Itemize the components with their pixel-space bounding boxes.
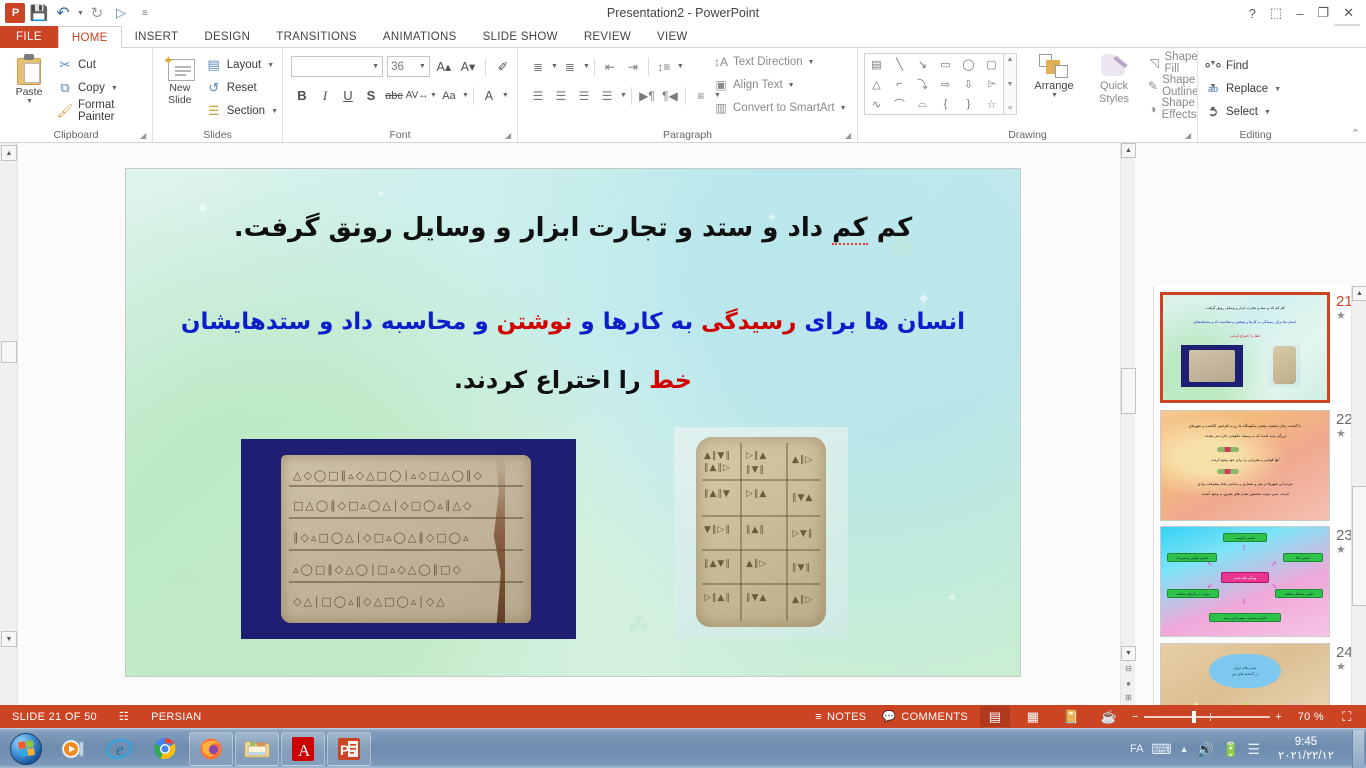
reading-view-button[interactable]: 📔	[1056, 706, 1086, 727]
shape-outline-icon: ✎	[1148, 78, 1158, 94]
font-size-value: 36	[391, 61, 404, 73]
file-explorer-taskbar-icon[interactable]	[235, 732, 279, 766]
zoom-slider[interactable]: − +	[1132, 711, 1282, 723]
thumb23-box-2: داشتن خط	[1283, 553, 1323, 562]
bullets-button[interactable]: ≣	[527, 56, 549, 77]
thumb21-line3: خط را اختراع کردند.	[1168, 333, 1322, 339]
thumb24-cloud-line2: در گذشته های دور	[1232, 671, 1259, 677]
numbering-dropdown-icon[interactable]: ▼	[583, 63, 590, 70]
italic-button[interactable]: I	[314, 85, 336, 106]
tab-review[interactable]: REVIEW	[571, 26, 644, 48]
language-bar-indicator[interactable]: FA	[1130, 743, 1143, 755]
keyboard-icon[interactable]: ⌨	[1151, 741, 1171, 758]
find-button[interactable]: ⚬⚬ Find	[1202, 56, 1309, 76]
help-button[interactable]: ?	[1249, 6, 1256, 21]
arrange-icon	[1037, 52, 1071, 80]
line-spacing-dropdown-icon[interactable]: ▼	[677, 63, 684, 70]
tab-insert[interactable]: INSERT	[122, 26, 192, 48]
slide-line2-part-2: رسیدگی	[701, 309, 796, 335]
replace-dropdown-icon[interactable]: ▼	[1274, 86, 1281, 93]
tab-slide-show[interactable]: SLIDE SHOW	[470, 26, 571, 48]
arrange-button[interactable]: Arrange ▼	[1024, 52, 1084, 99]
group-label-clipboard: Clipboard	[0, 129, 152, 141]
arrange-dropdown-icon[interactable]: ▼	[1051, 92, 1058, 99]
select-button[interactable]: ➲ Select ▼	[1202, 102, 1309, 122]
tab-home[interactable]: HOME	[58, 26, 122, 49]
shape-arc-icon[interactable]: ⌓	[911, 94, 934, 114]
cut-button[interactable]: ✂ Cut	[54, 55, 148, 75]
slide-thumbnail-23[interactable]: داشتن حکومت داشتن خط داشتن قوانین و مقرر…	[1160, 526, 1330, 637]
thumbnail-animation-star-24[interactable]: ★	[1336, 661, 1346, 673]
slide-line2-part-5: و محاسبه داد و ستدهایشان	[181, 309, 497, 335]
previous-slide-button[interactable]: ⊟	[1121, 661, 1136, 676]
ribbon-group-drawing: ▤ ╲ ↘ ▭ ◯ ▢ △ ⌐ ⤵ ⇨ ⇩ ⌲ ∿ ⌒ ⌓ { } ☆ ▲	[857, 48, 1197, 142]
shape-arrow-icon[interactable]: ↘	[911, 54, 934, 74]
outline-scroll-down-icon[interactable]: ▼	[1, 631, 17, 647]
character-spacing-dropdown-icon[interactable]: ▼	[430, 92, 437, 99]
layout-label: Layout	[227, 59, 262, 71]
battery-icon[interactable]: 🔋	[1222, 741, 1239, 758]
shape-elbow-arrow-icon[interactable]: ⤵	[911, 74, 934, 94]
mozilla-firefox-taskbar-icon[interactable]	[189, 732, 233, 766]
next-slide-button[interactable]: ⊞	[1121, 690, 1136, 705]
quick-styles-icon	[1097, 52, 1131, 80]
layout-button[interactable]: ▤ Layout ▼	[203, 55, 278, 75]
shape-scribble-icon[interactable]: ∿	[865, 94, 888, 114]
text-direction-dropdown-icon[interactable]: ▼	[808, 59, 815, 66]
columns-button[interactable]: ≡	[690, 85, 712, 106]
ribbon: Paste ▼ ✂ Cut ⧉ Copy ▼ 🖌 Format Painter	[0, 48, 1366, 143]
slide-sorter-button[interactable]: ▦	[1018, 706, 1048, 727]
group-label-editing: Editing	[1198, 129, 1313, 141]
zoom-out-button[interactable]: −	[1132, 711, 1139, 723]
clipboard-icon	[14, 54, 44, 86]
comments-label: COMMENTS	[901, 711, 968, 723]
reset-button[interactable]: ↺ Reset	[203, 78, 278, 98]
para-separator-2	[648, 58, 649, 76]
powerpoint-taskbar-icon[interactable]: P	[327, 732, 371, 766]
thumb23-box-6: داشتن معماری، شهرسازی و هنر	[1209, 613, 1281, 622]
slide-vertical-scrollbar[interactable]: ▲ ▼ ⊟ ● ⊞	[1120, 143, 1135, 705]
slide-scroll-down-icon[interactable]: ▼	[1121, 646, 1136, 661]
group-label-drawing: Drawing	[858, 129, 1197, 141]
windows-media-player-taskbar-icon[interactable]	[51, 732, 95, 766]
start-slideshow-icon[interactable]: ▷	[110, 2, 132, 24]
svg-text:P: P	[340, 742, 349, 758]
smartart-icon: ▥	[713, 100, 729, 116]
slide-line2-part-4: نوشتن	[497, 309, 573, 335]
window-title: Presentation2 - PowerPoint	[0, 0, 1366, 26]
shape-rounded-rect-icon[interactable]: ▢	[980, 54, 1003, 74]
layout-icon: ▤	[206, 57, 222, 73]
proto-elamite-clay-tablet-image[interactable]: △◇◯□∥▵◇△□◯∣▵◇□△◯∥◇ □△◯∥◇□▵◯△∣◇□◯▵∥△◇ ∥◇▵…	[241, 439, 576, 639]
shape-left-brace-icon[interactable]: {	[934, 94, 957, 114]
clear-formatting-button[interactable]: ✐	[493, 56, 513, 77]
copy-dropdown-icon[interactable]: ▼	[111, 85, 118, 92]
slide-line2-part-1: انسان ها برای	[796, 309, 965, 335]
drawing-dialog-launcher-icon[interactable]: ◢	[1185, 131, 1194, 140]
thumbnail-scroll-up-icon[interactable]: ▲	[1352, 286, 1366, 301]
svg-text:e: e	[116, 740, 124, 759]
thumbnail-scroll-thumb[interactable]	[1352, 486, 1366, 606]
slide-indicator[interactable]: SLIDE 21 OF 50	[8, 705, 101, 728]
font-color-dropdown-icon[interactable]: ▼	[502, 92, 509, 99]
notes-label: NOTES	[827, 711, 866, 723]
increase-indent-button[interactable]: ⇥	[622, 56, 644, 77]
thumb23-box-4: داشتن مشاغل مختلف	[1275, 589, 1323, 598]
save-icon[interactable]: 💾	[28, 2, 50, 24]
thumb22-line3: آنها قوانین و مقرراتی را برای خود وضع کر…	[1166, 457, 1324, 463]
paragraph-dialog-launcher-icon[interactable]: ◢	[845, 131, 854, 140]
font-dialog-launcher-icon[interactable]: ◢	[505, 131, 514, 140]
section-icon: ☰	[206, 103, 222, 119]
svg-text:A: A	[298, 741, 311, 760]
font-size-dropdown-icon[interactable]: ▼	[419, 63, 426, 70]
select-cursor-icon: ➲	[1205, 104, 1221, 120]
thumb23-center: ویژگی های تمدن	[1221, 572, 1269, 583]
align-center-button[interactable]: ☰	[550, 85, 572, 106]
font-name-input[interactable]: ▼	[291, 56, 383, 77]
volume-icon[interactable]: 🔊	[1197, 741, 1214, 758]
slide-thumbnail-22[interactable]: با گذشت زمان جمعیت بعضی سکونتگاه ها رو ب…	[1160, 410, 1330, 521]
thumb22-line1: با گذشت زمان جمعیت بعضی سکونتگاه ها رو ب…	[1166, 423, 1324, 429]
quick-styles-label-line1: Quick	[1100, 80, 1128, 93]
system-tray: FA ⌨ ▲ 🔊 🔋 ☰ 9:45 ۲۰۲۱/۲۲/۱۲	[1130, 729, 1366, 768]
bullets-dropdown-icon[interactable]: ▼	[551, 63, 558, 70]
format-painter-button[interactable]: 🖌 Format Painter	[54, 101, 148, 121]
shape-down-arrow-icon[interactable]: ⇩	[957, 74, 980, 94]
convert-to-smartart-button[interactable]: ▥ Convert to SmartArt ▼	[713, 98, 847, 118]
line-spacing-button[interactable]: ↕≡	[653, 56, 675, 77]
section-label: Section	[227, 105, 265, 117]
cut-label: Cut	[78, 59, 96, 71]
undo-icon[interactable]: ↶	[52, 2, 74, 24]
cuneiform-clay-tablet-image[interactable]: ▲‖▼‖ ‖▲‖▷ ▷‖▲ ‖▼‖ ▲‖▷ ‖▲‖▼ ▷‖▲ ‖▼▲ ▼‖▷‖ …	[674, 427, 848, 639]
slide-thumbnail-21[interactable]: کم کم داد و ستد و تجارت ابزار و وسایل رو…	[1160, 292, 1330, 403]
thumb23-arrow-sw-icon: ⇙	[1207, 583, 1213, 590]
ribbon-display-options-button[interactable]: ⬚	[1270, 5, 1282, 21]
powerpoint-logo-glyph: P	[5, 3, 25, 23]
font-size-input[interactable]: 36 ▼	[387, 56, 430, 77]
network-icon[interactable]: ☰	[1247, 741, 1260, 758]
copy-icon: ⧉	[57, 80, 73, 96]
slide-scroll-up-icon[interactable]: ▲	[1121, 143, 1136, 158]
title-bar: P 💾 ↶ ▼ ↻ ▷ ≡ Presentation2 - PowerPoint…	[0, 0, 1366, 26]
thumbnail-animation-star-23[interactable]: ★	[1336, 544, 1346, 556]
slide-text-line-2[interactable]: انسان ها برای رسیدگی به کارها و نوشتن و …	[140, 309, 1006, 335]
section-dropdown-icon[interactable]: ▼	[271, 108, 278, 115]
quick-styles-button[interactable]: Quick Styles	[1086, 52, 1142, 106]
justify-button[interactable]: ☰	[596, 85, 618, 106]
font-separator-2	[473, 87, 474, 105]
outline-pane-scrollbar[interactable]: ▲ ▼	[0, 143, 18, 705]
replace-button[interactable]: ab Replace ▼	[1202, 79, 1309, 99]
replace-label: Replace	[1226, 83, 1268, 95]
new-slide-icon: ✦	[163, 56, 197, 82]
notes-icon: ≡	[815, 711, 822, 723]
shape-star-icon[interactable]: ☆	[980, 94, 1003, 114]
para-separator-1	[594, 58, 595, 76]
zoom-track[interactable]	[1144, 716, 1271, 718]
slide-scroll-thumb[interactable]	[1121, 368, 1136, 414]
slide-canvas-area: ✦ ✦ ✦ ✦ ✦ ✦ ☘ ☘ ☘ کم کم داد و ستد و تجار…	[18, 143, 1135, 705]
normal-view-button[interactable]: ▤	[980, 706, 1010, 727]
zoom-in-button[interactable]: +	[1275, 711, 1282, 723]
convert-to-smartart-label: Convert to SmartArt	[733, 102, 835, 114]
decrease-indent-button[interactable]: ⇤	[599, 56, 621, 77]
show-hidden-icons-icon[interactable]: ▲	[1180, 744, 1189, 754]
group-label-paragraph: Paragraph	[518, 129, 857, 141]
ltr-direction-button[interactable]: ▶¶	[636, 85, 658, 106]
rtl-direction-button[interactable]: ¶◀	[659, 85, 681, 106]
arrange-label: Arrange	[1034, 80, 1073, 92]
clock[interactable]: 9:45 ۲۰۲۱/۲۲/۱۲	[1268, 735, 1344, 763]
shapes-gallery[interactable]: ▤ ╲ ↘ ▭ ◯ ▢ △ ⌐ ⤵ ⇨ ⇩ ⌲ ∿ ⌒ ⌓ { } ☆	[864, 53, 1004, 115]
paste-label: Paste	[16, 86, 43, 98]
align-text-dropdown-icon[interactable]: ▼	[788, 82, 795, 89]
format-painter-label: Format Painter	[78, 99, 148, 123]
comments-button[interactable]: 💬 COMMENTS	[878, 705, 972, 728]
adobe-acrobat-taskbar-icon[interactable]: A	[281, 732, 325, 766]
status-bar: SLIDE 21 OF 50 ☷ PERSIAN ≡ NOTES 💬 COMME…	[0, 705, 1366, 728]
slide-line3-part-2: را اختراع کردند.	[454, 366, 649, 394]
thumbnail-row-21[interactable]: کم کم داد و ستد و تجارت ابزار و وسایل رو…	[1160, 292, 1356, 403]
thumb22-line5: کردند. بدین ترتیب نخستین تمدن های بشری ب…	[1166, 491, 1324, 497]
comment-bubble-icon: 💬	[882, 710, 896, 723]
clock-date: ۲۰۲۱/۲۲/۱۲	[1278, 750, 1334, 762]
align-left-button[interactable]: ☰	[527, 85, 549, 106]
thumb23-box-1: داشتن حکومت	[1223, 533, 1267, 542]
shape-right-arrow-icon[interactable]: ⇨	[934, 74, 957, 94]
find-label: Find	[1226, 60, 1248, 72]
strikethrough-button[interactable]: abc	[383, 85, 405, 106]
shapes-scroll-up-icon[interactable]: ▲	[1007, 56, 1014, 63]
redo-icon[interactable]: ↻	[86, 2, 108, 24]
tab-file[interactable]: FILE	[0, 26, 58, 48]
thumb23-arrow-ne-icon: ⇗	[1271, 561, 1277, 568]
section-button[interactable]: ☰ Section ▼	[203, 101, 278, 121]
ribbon-group-editing: ⚬⚬ Find ab Replace ▼ ➲ Select ▼ Editing	[1197, 48, 1313, 142]
copy-label: Copy	[78, 82, 105, 94]
shape-right-brace-icon[interactable]: }	[957, 94, 980, 114]
thumbnail-pane-scrollbar[interactable]: ▲ ▼	[1351, 286, 1366, 768]
thumb23-arrow-down-icon: ⇩	[1241, 599, 1247, 606]
ribbon-group-font: ▼ 36 ▼ A▴ A▾ ✐ B I U S abc AV↔ ▼ Aa	[282, 48, 517, 142]
shape-textbox-icon[interactable]: ▤	[865, 54, 888, 74]
shapes-gallery-scrollbar[interactable]: ▲ ▼ ≡	[1004, 53, 1017, 115]
zoom-knob[interactable]	[1192, 711, 1196, 723]
thumb21-line2: انسان ها برای رسیدگی به کارها و نوشتن و …	[1168, 319, 1322, 325]
thumbnail-animation-star-21[interactable]: ★	[1336, 310, 1346, 322]
windows-taskbar: e	[0, 728, 1366, 768]
restore-button[interactable]: ❐	[1317, 5, 1329, 21]
thumb21-image-2	[1267, 343, 1301, 387]
tab-animations[interactable]: ANIMATIONS	[370, 26, 470, 48]
new-slide-label-line2: Slide	[168, 94, 191, 106]
shape-oval-icon[interactable]: ◯	[957, 54, 980, 74]
ribbon-tab-bar: FILE HOME INSERT DESIGN TRANSITIONS ANIM…	[0, 26, 1366, 48]
shape-curve-icon[interactable]: ⌒	[888, 94, 911, 114]
font-separator	[485, 58, 486, 76]
justify-dropdown-icon[interactable]: ▼	[620, 92, 627, 99]
thumb23-arrow-se-icon: ⇘	[1271, 583, 1277, 590]
scissors-icon: ✂	[57, 57, 73, 73]
google-chrome-taskbar-icon[interactable]	[143, 732, 187, 766]
tablet-b-surface: ▲‖▼‖ ‖▲‖▷ ▷‖▲ ‖▼‖ ▲‖▷ ‖▲‖▼ ▷‖▲ ‖▼▲ ▼‖▷‖ …	[696, 437, 826, 627]
shape-fill-icon: ◹	[1148, 55, 1161, 71]
copy-button[interactable]: ⧉ Copy ▼	[54, 78, 148, 98]
thumb22-line2: بزرگی پدید آمدند که به وسیله حکومتی ادار…	[1166, 433, 1324, 439]
zoom-level-label[interactable]: 70 %	[1290, 711, 1324, 723]
new-slide-label-line1: New	[169, 82, 190, 94]
slide-line2-part-3: به کارها و	[572, 309, 701, 335]
align-text-icon: ▣	[713, 77, 729, 93]
shape-line-icon[interactable]: ╲	[888, 54, 911, 74]
text-direction-label: Text Direction	[733, 56, 803, 68]
thumb24-cloud: تمدن های ایران در گذشته های دور	[1209, 654, 1281, 688]
thumb23-arrow-nw-icon: ⇖	[1207, 561, 1213, 568]
align-text-label: Align Text	[733, 79, 783, 91]
minimize-button[interactable]: –	[1296, 6, 1303, 21]
shape-effects-icon: ◑	[1148, 101, 1158, 117]
align-text-button[interactable]: ▣ Align Text ▼	[713, 75, 847, 95]
spelling-icon[interactable]: ☷	[115, 705, 133, 728]
quick-access-toolbar: P 💾 ↶ ▼ ↻ ▷ ≡	[0, 0, 156, 26]
outline-scroll-thumb[interactable]	[1, 341, 17, 363]
quick-styles-label-line2: Styles	[1099, 93, 1129, 106]
bold-button[interactable]: B	[291, 85, 313, 106]
shapes-more-icon[interactable]: ≡	[1008, 105, 1012, 112]
layout-dropdown-icon[interactable]: ▼	[267, 62, 274, 69]
customize-qat-icon[interactable]: ≡	[134, 2, 156, 24]
powerpoint-logo-icon: P	[4, 2, 26, 24]
slide-show-button[interactable]: ☕	[1094, 706, 1124, 727]
show-desktop-button[interactable]	[1352, 730, 1364, 768]
thumb23-arrow-up-icon: ⇧	[1241, 545, 1247, 552]
thumb21-image-1	[1181, 345, 1243, 387]
text-direction-button[interactable]: ↕A Text Direction ▼	[713, 52, 847, 72]
work-area: ▲ ▼ ✦ ✦ ✦ ✦ ✦ ✦ ☘ ☘ ☘ کم کم داد و ستد و …	[0, 143, 1366, 705]
select-label: Select	[1226, 106, 1258, 118]
thumbnail-animation-star-22[interactable]: ★	[1336, 428, 1346, 440]
ribbon-group-slides: ✦ New Slide ▤ Layout ▼ ↺ Reset ☰ Section	[152, 48, 282, 142]
tab-design[interactable]: DESIGN	[191, 26, 263, 48]
underline-button[interactable]: U	[337, 85, 359, 106]
thumb22-line4: مردم این شهرها در هنر و معماری و ساختن ب…	[1166, 481, 1324, 487]
binoculars-icon: ⚬⚬	[1205, 58, 1221, 74]
group-label-font: Font	[283, 129, 517, 141]
shape-triangle-icon[interactable]: △	[865, 74, 888, 94]
collapse-ribbon-button[interactable]: ⌃	[1351, 127, 1360, 140]
clock-time: 9:45	[1295, 736, 1317, 748]
windows-start-orb-icon	[10, 733, 42, 765]
change-case-dropdown-icon[interactable]: ▼	[462, 92, 469, 99]
slide-text-line-3[interactable]: خط را اختراع کردند.	[140, 366, 1006, 394]
smartart-dropdown-icon[interactable]: ▼	[840, 105, 847, 112]
slide-line3-part-1: خط	[649, 366, 692, 394]
internet-explorer-taskbar-icon[interactable]: e	[97, 732, 141, 766]
thumb23-box-5: مهارت در کارهای مختلف	[1167, 589, 1219, 598]
text-direction-icon: ↕A	[713, 54, 729, 70]
format-painter-icon: 🖌	[57, 103, 73, 119]
shape-elbow-connector-icon[interactable]: ⌐	[888, 74, 911, 94]
outline-scroll-up-icon[interactable]: ▲	[1, 145, 17, 161]
reset-label: Reset	[227, 82, 257, 94]
font-color-button[interactable]: A	[478, 85, 500, 106]
thumbnail-row-22[interactable]: با گذشت زمان جمعیت بعضی سکونتگاه ها رو ب…	[1160, 410, 1356, 521]
align-right-button[interactable]: ☰	[573, 85, 595, 106]
select-browse-object-button[interactable]: ●	[1121, 676, 1136, 690]
select-dropdown-icon[interactable]: ▼	[1264, 109, 1271, 116]
font-name-dropdown-icon[interactable]: ▼	[372, 63, 379, 70]
character-spacing-button[interactable]: AV↔	[406, 85, 428, 106]
slide-canvas[interactable]: ✦ ✦ ✦ ✦ ✦ ✦ ☘ ☘ ☘ کم کم داد و ستد و تجار…	[125, 168, 1021, 677]
shape-folded-corner-icon[interactable]: ⌲	[980, 74, 1003, 94]
tab-view[interactable]: VIEW	[644, 26, 701, 48]
ribbon-group-paragraph: ≣ ▼ ≣ ▼ ⇤ ⇥ ↕≡ ▼ ☰ ☰ ☰ ☰ ▼ ▶¶ ¶◀	[517, 48, 857, 142]
slide-thumbnail-pane[interactable]: کم کم داد و ستد و تجارت ابزار و وسایل رو…	[1153, 286, 1366, 768]
slide-line1-text: کم کم داد و ستد و تجارت ابزار و وسایل رو…	[234, 213, 912, 245]
paste-dropdown-icon[interactable]: ▼	[26, 98, 33, 105]
close-button[interactable]: ✕	[1343, 5, 1354, 21]
change-case-button[interactable]: Aa	[438, 85, 460, 106]
para-separator-4	[685, 87, 686, 105]
replace-icon: ab	[1205, 81, 1221, 97]
language-indicator[interactable]: PERSIAN	[147, 705, 205, 728]
numbering-button[interactable]: ≣	[559, 56, 581, 77]
shape-rectangle-icon[interactable]: ▭	[934, 54, 957, 74]
thumbnail-row-23[interactable]: داشتن حکومت داشتن خط داشتن قوانین و مقرر…	[1160, 526, 1356, 637]
reset-icon: ↺	[206, 80, 222, 96]
text-shadow-button[interactable]: S	[360, 85, 382, 106]
slide-text-line-1[interactable]: کم کم داد و ستد و تجارت ابزار و وسایل رو…	[140, 213, 1006, 243]
window-controls: ? ⬚ – ❐ ✕	[1249, 0, 1362, 26]
increase-font-size-button[interactable]: A▴	[434, 56, 454, 77]
powerpoint-window: P 💾 ↶ ▼ ↻ ▷ ≡ Presentation2 - PowerPoint…	[0, 0, 1366, 768]
ribbon-group-clipboard: Paste ▼ ✂ Cut ⧉ Copy ▼ 🖌 Format Painter	[0, 48, 152, 142]
decrease-font-size-button[interactable]: A▾	[458, 56, 478, 77]
undo-dropdown-icon[interactable]: ▼	[77, 10, 84, 17]
shapes-scroll-down-icon[interactable]: ▼	[1007, 81, 1014, 88]
thumb21-line1: کم کم داد و ستد و تجارت ابزار و وسایل رو…	[1168, 305, 1322, 311]
fit-slide-to-window-button[interactable]: ⛶	[1332, 706, 1362, 727]
tab-transitions[interactable]: TRANSITIONS	[263, 26, 370, 48]
group-label-slides: Slides	[153, 129, 282, 141]
clipboard-dialog-launcher-icon[interactable]: ◢	[140, 131, 149, 140]
start-button[interactable]	[2, 730, 50, 768]
notes-button[interactable]: ≡ NOTES	[811, 705, 870, 728]
para-separator-3	[631, 87, 632, 105]
tablet-a-surface: △◇◯□∥▵◇△□◯∣▵◇□△◯∥◇ □△◯∥◇□▵◯△∣◇□◯▵∥△◇ ∥◇▵…	[281, 455, 531, 623]
